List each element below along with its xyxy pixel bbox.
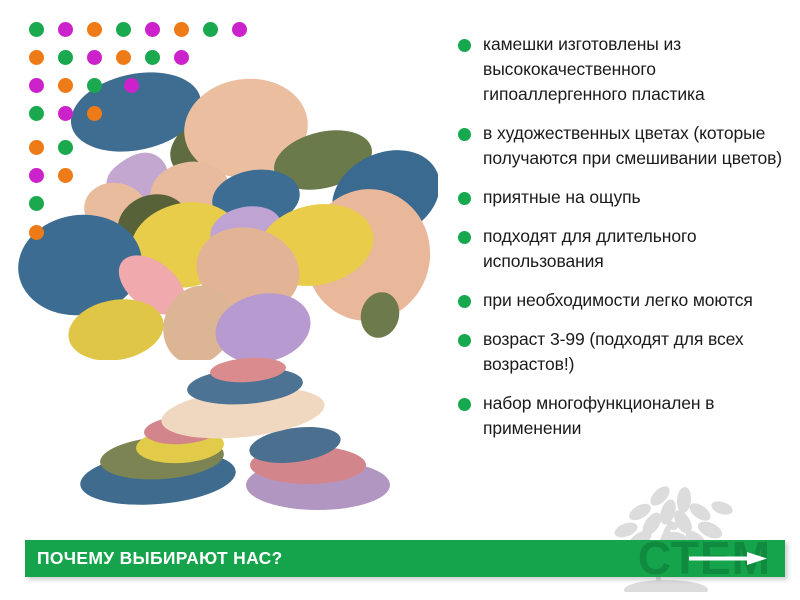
list-item: набор многофункционален в применении xyxy=(452,391,792,441)
list-item-label: при необходимости легко моются xyxy=(483,290,753,310)
list-item: приятные на ощупь xyxy=(452,185,792,210)
decorative-dot-grid xyxy=(0,0,270,250)
decorative-dot-green xyxy=(29,22,44,37)
slide-canvas: камешки изготовлены из высококачественно… xyxy=(0,0,800,600)
list-item-label: в художественных цветах (которые получаю… xyxy=(483,123,782,168)
decorative-dot-green xyxy=(203,22,218,37)
list-item-label: набор многофункционален в применении xyxy=(483,393,714,438)
decorative-dot-green xyxy=(58,50,73,65)
decorative-dot-green xyxy=(116,22,131,37)
bullet-dot-icon xyxy=(458,39,471,52)
features-bullet-list: камешки изготовлены из высококачественно… xyxy=(452,32,792,455)
decorative-dot-magenta xyxy=(124,78,139,93)
decorative-dot-orange xyxy=(58,168,73,183)
list-item: в художественных цветах (которые получаю… xyxy=(452,121,792,171)
list-item: возраст 3-99 (подходят для всех возрасто… xyxy=(452,327,792,377)
decorative-dot-green xyxy=(58,140,73,155)
decorative-dot-green xyxy=(29,196,44,211)
decorative-dot-magenta xyxy=(29,78,44,93)
bullet-dot-icon xyxy=(458,128,471,141)
decorative-dot-orange xyxy=(116,50,131,65)
list-item-label: возраст 3-99 (подходят для всех возрасто… xyxy=(483,329,744,374)
decorative-dot-orange xyxy=(29,225,44,240)
decorative-dot-magenta xyxy=(174,50,189,65)
bullet-dot-icon xyxy=(458,295,471,308)
bullet-dot-icon xyxy=(458,231,471,244)
decorative-dot-orange xyxy=(87,22,102,37)
decorative-dot-green xyxy=(87,78,102,93)
pebble-arch-illustration xyxy=(80,340,420,520)
arrow-right-icon xyxy=(689,551,767,566)
decorative-dot-magenta xyxy=(232,22,247,37)
decorative-dot-magenta xyxy=(29,168,44,183)
bullet-dot-icon xyxy=(458,398,471,411)
decorative-dot-magenta xyxy=(87,50,102,65)
list-item-label: подходят для длительного использования xyxy=(483,226,697,271)
decorative-dot-orange xyxy=(29,140,44,155)
decorative-dot-orange xyxy=(174,22,189,37)
decorative-dot-green xyxy=(145,50,160,65)
decorative-dot-green xyxy=(29,106,44,121)
bullet-dot-icon xyxy=(458,192,471,205)
list-item: подходят для длительного использования xyxy=(452,224,792,274)
decorative-dot-orange xyxy=(58,78,73,93)
footer-title: ПОЧЕМУ ВЫБИРАЮТ НАС? xyxy=(37,540,283,577)
list-item-label: камешки изготовлены из высококачественно… xyxy=(483,34,705,104)
list-item: камешки изготовлены из высококачественно… xyxy=(452,32,792,107)
decorative-dot-magenta xyxy=(58,22,73,37)
decorative-dot-magenta xyxy=(145,22,160,37)
decorative-dot-magenta xyxy=(58,106,73,121)
decorative-dot-orange xyxy=(29,50,44,65)
pebble-arch-photo xyxy=(80,340,420,520)
decorative-dot-orange xyxy=(87,106,102,121)
footer-banner: СТЕМ ПОЧЕМУ ВЫБИРАЮТ НАС? xyxy=(25,540,785,577)
bullet-dot-icon xyxy=(458,334,471,347)
list-item: при необходимости легко моются xyxy=(452,288,792,313)
list-item-label: приятные на ощупь xyxy=(483,187,641,207)
